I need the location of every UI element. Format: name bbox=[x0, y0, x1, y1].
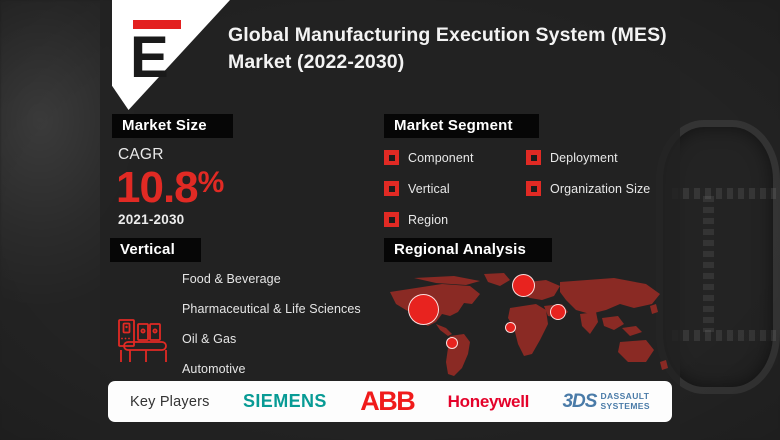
market-size-section: Market Size CAGR 10.8% 2021-2030 bbox=[112, 114, 362, 227]
map-marker-europe[interactable] bbox=[512, 274, 535, 297]
vertical-heading: Vertical bbox=[110, 238, 201, 262]
map-marker-north-america[interactable] bbox=[408, 294, 439, 325]
dassault-line1: DASSAULT bbox=[600, 391, 649, 401]
map-marker-south-america[interactable] bbox=[446, 337, 458, 349]
world-map bbox=[384, 270, 674, 380]
market-size-heading: Market Size bbox=[112, 114, 233, 138]
vertical-item[interactable]: Oil & Gas bbox=[182, 332, 361, 346]
key-players-bar: Key Players SIEMENS ABB Honeywell 3DS DA… bbox=[108, 381, 672, 422]
vertical-body: Food & Beverage Pharmaceutical & Life Sc… bbox=[110, 272, 385, 382]
map-marker-middle-east-africa[interactable] bbox=[505, 322, 516, 333]
vertical-item[interactable]: Automotive bbox=[182, 362, 361, 376]
header: E Global Manufacturing Execution System … bbox=[100, 0, 680, 112]
logo-abb[interactable]: ABB bbox=[360, 388, 414, 415]
vertical-list: Food & Beverage Pharmaceutical & Life Sc… bbox=[182, 272, 361, 392]
segment-label: Vertical bbox=[408, 182, 450, 196]
key-players-label: Key Players bbox=[130, 394, 210, 410]
bullet-square-icon bbox=[384, 181, 399, 196]
cagr-number: 10.8 bbox=[116, 163, 198, 212]
market-segment-section: Market Segment Component Deployment Vert… bbox=[384, 114, 674, 227]
segment-item-deployment[interactable]: Deployment bbox=[526, 150, 674, 165]
segment-label: Organization Size bbox=[550, 182, 650, 196]
segment-item-organization-size[interactable]: Organization Size bbox=[526, 181, 674, 196]
segment-item-region[interactable]: Region bbox=[384, 212, 526, 227]
dassault-3ds-mark: 3DS bbox=[562, 391, 596, 413]
regional-analysis-section: Regional Analysis bbox=[384, 238, 674, 380]
bullet-square-icon bbox=[526, 150, 541, 165]
market-segment-list: Component Deployment Vertical Organizati… bbox=[384, 150, 674, 227]
vertical-item[interactable]: Pharmaceutical & Life Sciences bbox=[182, 302, 361, 316]
cagr-label: CAGR bbox=[118, 146, 362, 164]
page-title: Global Manufacturing Execution System (M… bbox=[228, 22, 668, 76]
dassault-wordmark: DASSAULT SYSTEMES bbox=[600, 392, 650, 411]
conveyor-belt-icon bbox=[116, 318, 172, 371]
infographic-root: E Global Manufacturing Execution System … bbox=[0, 0, 780, 440]
bullet-square-icon bbox=[384, 150, 399, 165]
map-marker-asia-pacific[interactable] bbox=[550, 304, 566, 320]
cagr-period: 2021-2030 bbox=[118, 212, 362, 227]
bullet-square-icon bbox=[384, 212, 399, 227]
dassault-line2: SYSTEMES bbox=[600, 401, 650, 411]
market-segment-heading: Market Segment bbox=[384, 114, 539, 138]
segment-item-component[interactable]: Component bbox=[384, 150, 526, 165]
logo-honeywell[interactable]: Honeywell bbox=[448, 392, 529, 412]
segment-item-vertical[interactable]: Vertical bbox=[384, 181, 526, 196]
segment-label: Deployment bbox=[550, 151, 618, 165]
regional-analysis-heading: Regional Analysis bbox=[384, 238, 552, 262]
segment-label: Region bbox=[408, 213, 448, 227]
cagr-unit: % bbox=[198, 166, 224, 199]
vertical-item[interactable]: Food & Beverage bbox=[182, 272, 361, 286]
logo-dassault-systemes[interactable]: 3DS DASSAULT SYSTEMES bbox=[562, 391, 649, 413]
logo-siemens[interactable]: SIEMENS bbox=[243, 391, 327, 412]
cagr-value: 10.8% bbox=[116, 166, 362, 210]
vertical-section: Vertical Food & bbox=[110, 238, 385, 382]
bullet-square-icon bbox=[526, 181, 541, 196]
logo-letter: E bbox=[130, 32, 168, 84]
segment-label: Component bbox=[408, 151, 474, 165]
